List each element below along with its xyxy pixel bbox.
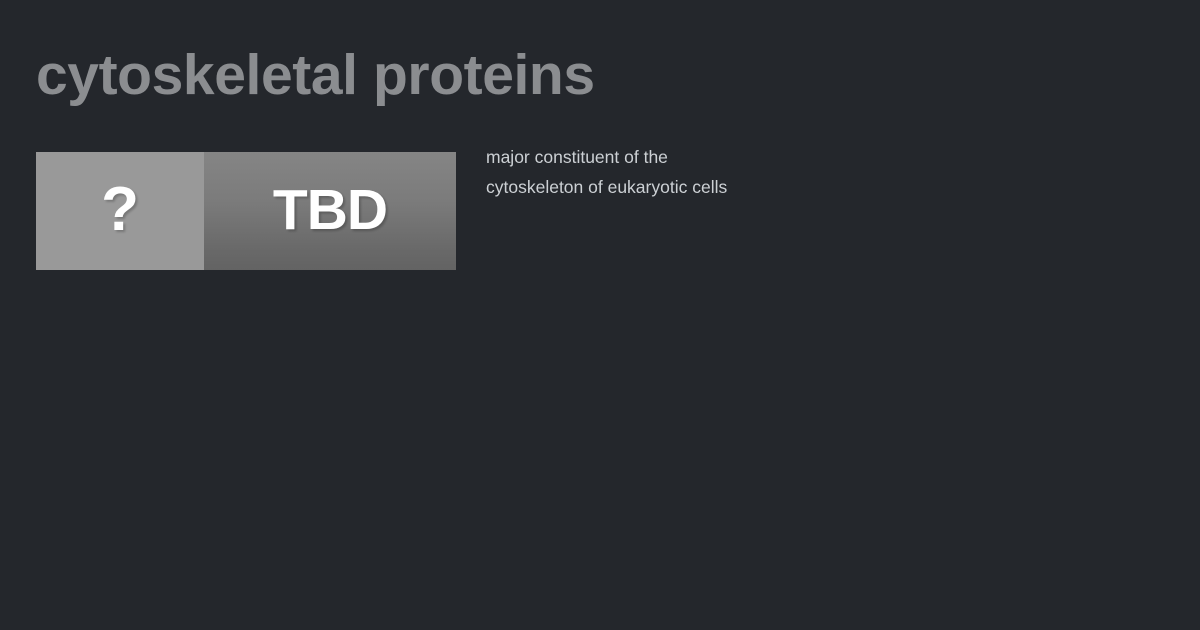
placeholder-question-panel: ? [36,152,204,270]
description-text: major constituent of the cytoskeleton of… [486,142,816,202]
description-line-2: cytoskeleton of eukaryotic cells [486,172,816,202]
question-mark-icon: ? [101,179,139,241]
placeholder-tbd-label: TBD [273,182,387,239]
description-line-1: major constituent of the [486,142,816,172]
page-root: cytoskeletal proteins ? TBD major consti… [0,0,1200,630]
image-placeholder[interactable]: ? TBD [36,152,456,270]
page-title: cytoskeletal proteins [36,44,595,108]
placeholder-tbd-panel: TBD [204,152,456,270]
